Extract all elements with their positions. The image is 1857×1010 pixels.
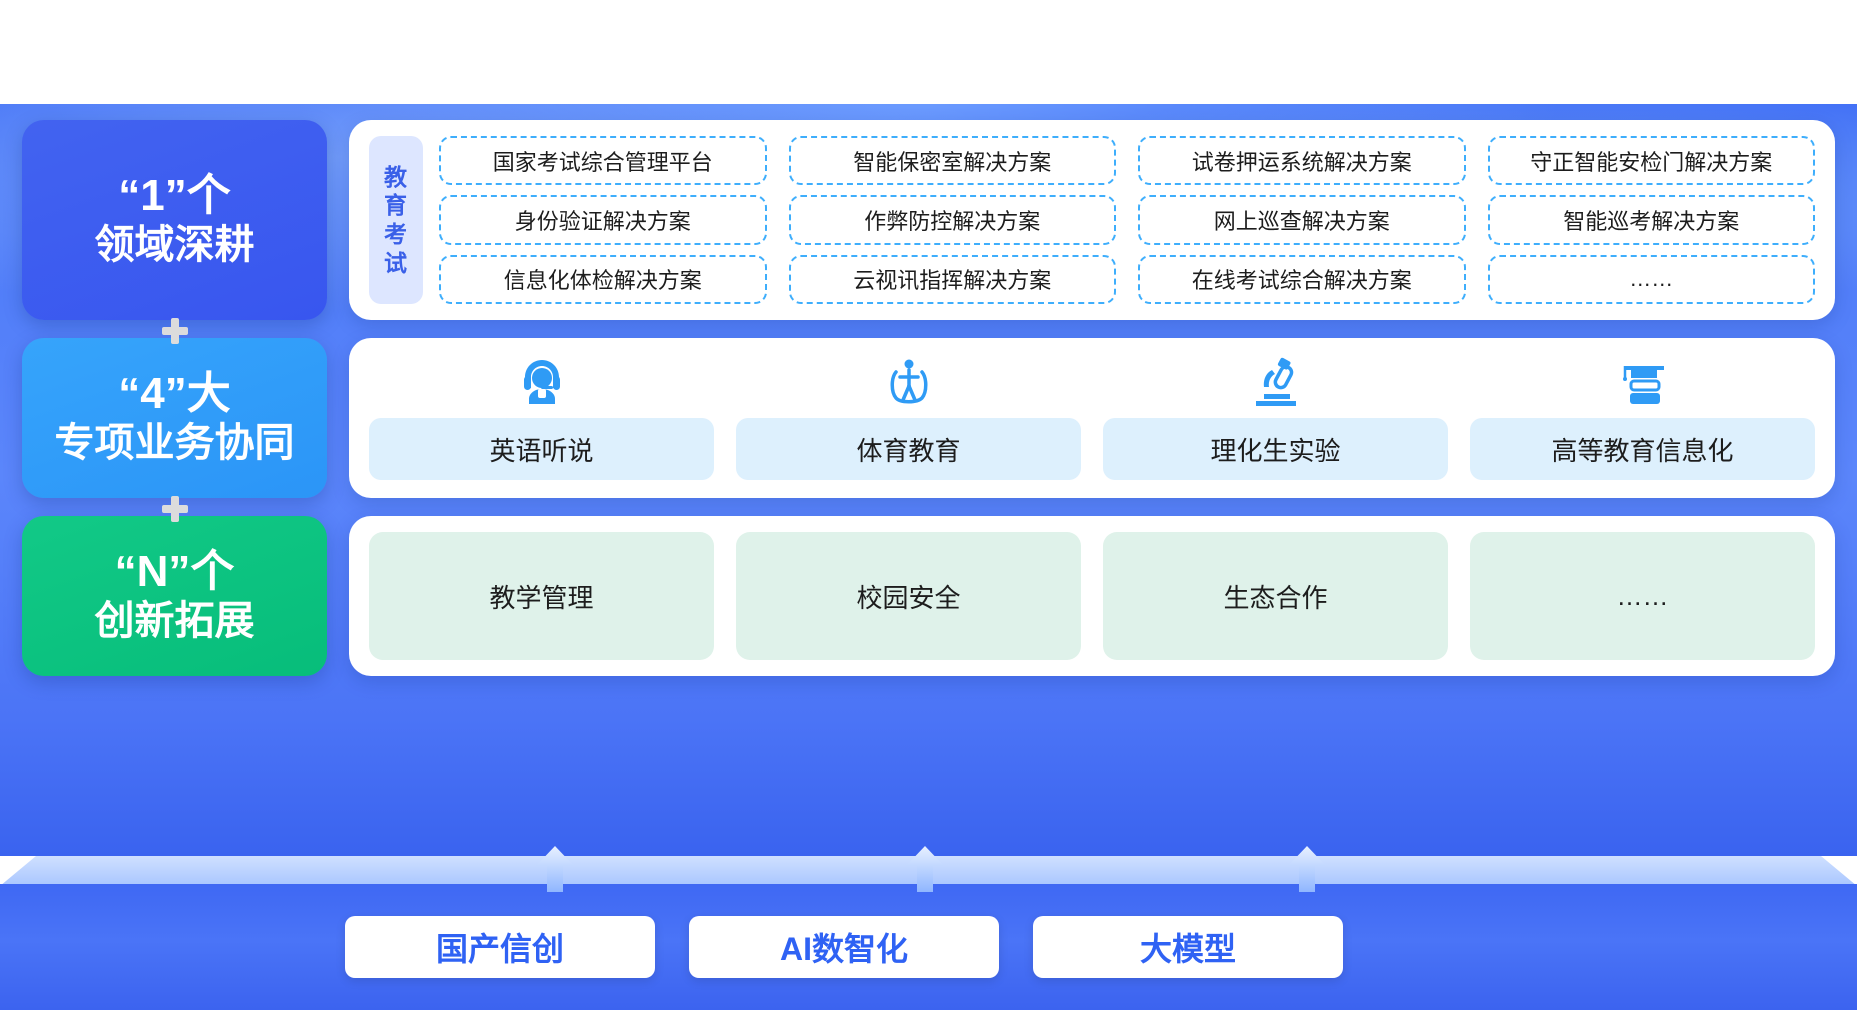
footer-button-ai-digital[interactable]: AI数智化	[689, 916, 999, 978]
exam-vlabel-char-4: 试	[384, 249, 408, 278]
innovation-tile[interactable]: 校园安全	[736, 532, 1081, 660]
pill-four-bottom: 专项业务协同	[55, 419, 295, 467]
footer-button-large-model[interactable]: 大模型	[1033, 916, 1343, 978]
exam-chip[interactable]: 智能巡考解决方案	[1488, 195, 1816, 244]
innovation-tile[interactable]: 生态合作	[1103, 532, 1448, 660]
title-band	[0, 0, 1857, 104]
exam-chip[interactable]: 网上巡查解决方案	[1138, 195, 1466, 244]
exam-vlabel-char-1: 教	[384, 163, 408, 192]
innovation-tile[interactable]: ……	[1470, 532, 1815, 660]
exam-chip[interactable]: 云视讯指挥解决方案	[789, 255, 1117, 304]
pill-one-bottom: 领域深耕	[95, 221, 255, 269]
specialty-item-english[interactable]: 英语听说	[369, 354, 714, 482]
exam-chip[interactable]: 作弊防控解决方案	[789, 195, 1117, 244]
specialty-label: 高等教育信息化	[1470, 418, 1815, 480]
specialty-label: 理化生实验	[1103, 418, 1448, 480]
footer-button-domestic-innovation[interactable]: 国产信创	[345, 916, 655, 978]
exam-card: 教 育 考 试 国家考试综合管理平台 智能保密室解决方案 试卷押运系统解决方案 …	[349, 120, 1835, 320]
headset-operator-icon	[516, 354, 568, 410]
exam-chip[interactable]: 在线考试综合解决方案	[1138, 255, 1466, 304]
up-arrow-icon	[536, 846, 574, 892]
row-education-exam: “1”个 领域深耕 教 育 考 试 国家考试综合管理平台 智能保密室解决方案 试…	[22, 120, 1835, 320]
specialty-item-pe[interactable]: 体育教育	[736, 354, 1081, 482]
jump-rope-person-icon	[883, 354, 935, 410]
specialty-label: 英语听说	[369, 418, 714, 480]
exam-solution-grid: 国家考试综合管理平台 智能保密室解决方案 试卷押运系统解决方案 守正智能安检门解…	[439, 136, 1815, 304]
exam-chip[interactable]: 国家考试综合管理平台	[439, 136, 767, 185]
pill-four-specialties[interactable]: “4”大 专项业务协同	[22, 338, 327, 498]
exam-chip[interactable]: 信息化体检解决方案	[439, 255, 767, 304]
pill-four-top: “4”大	[118, 369, 230, 418]
exam-vlabel-char-3: 考	[384, 220, 408, 249]
exam-vertical-label: 教 育 考 试	[369, 136, 423, 304]
exam-chip[interactable]: 守正智能安检门解决方案	[1488, 136, 1816, 185]
specialty-item-lab[interactable]: 理化生实验	[1103, 354, 1448, 482]
exam-chip[interactable]: ……	[1488, 255, 1816, 304]
row-specialty: “4”大 专项业务协同	[22, 338, 1835, 498]
pill-one-top: “1”个	[118, 171, 230, 220]
specialty-item-higher-ed[interactable]: 高等教育信息化	[1470, 354, 1815, 482]
exam-chip[interactable]: 身份验证解决方案	[439, 195, 767, 244]
exam-vlabel-char-2: 育	[384, 191, 408, 220]
row-innovation: “N”个 创新拓展 教学管理 校园安全 生态合作 ……	[22, 516, 1835, 676]
microscope-icon	[1250, 354, 1302, 410]
infographic-root: 佳发教育业务体系 “1”个 领域深耕 教 育 考 试 国家考试综合管理平台 智能…	[0, 0, 1857, 1010]
up-arrow-icon	[906, 846, 944, 892]
specialty-card: 英语听说 体育	[349, 338, 1835, 498]
innovation-card: 教学管理 校园安全 生态合作 ……	[349, 516, 1835, 676]
pill-n-top: “N”个	[115, 547, 235, 596]
pill-n-bottom: 创新拓展	[95, 597, 255, 645]
footer-buttons: 国产信创 AI数智化 大模型	[0, 884, 1857, 1010]
innovation-tile[interactable]: 教学管理	[369, 532, 714, 660]
exam-chip[interactable]: 智能保密室解决方案	[789, 136, 1117, 185]
pill-n-innovations[interactable]: “N”个 创新拓展	[22, 516, 327, 676]
up-arrow-icon	[1288, 846, 1326, 892]
innovation-grid: 教学管理 校园安全 生态合作 ……	[369, 532, 1815, 660]
pill-one-domain[interactable]: “1”个 领域深耕	[22, 120, 327, 320]
specialty-grid: 英语听说 体育	[369, 354, 1815, 482]
graduation-books-icon	[1616, 354, 1670, 410]
exam-chip[interactable]: 试卷押运系统解决方案	[1138, 136, 1466, 185]
content-area: “1”个 领域深耕 教 育 考 试 国家考试综合管理平台 智能保密室解决方案 试…	[22, 120, 1835, 722]
specialty-label: 体育教育	[736, 418, 1081, 480]
